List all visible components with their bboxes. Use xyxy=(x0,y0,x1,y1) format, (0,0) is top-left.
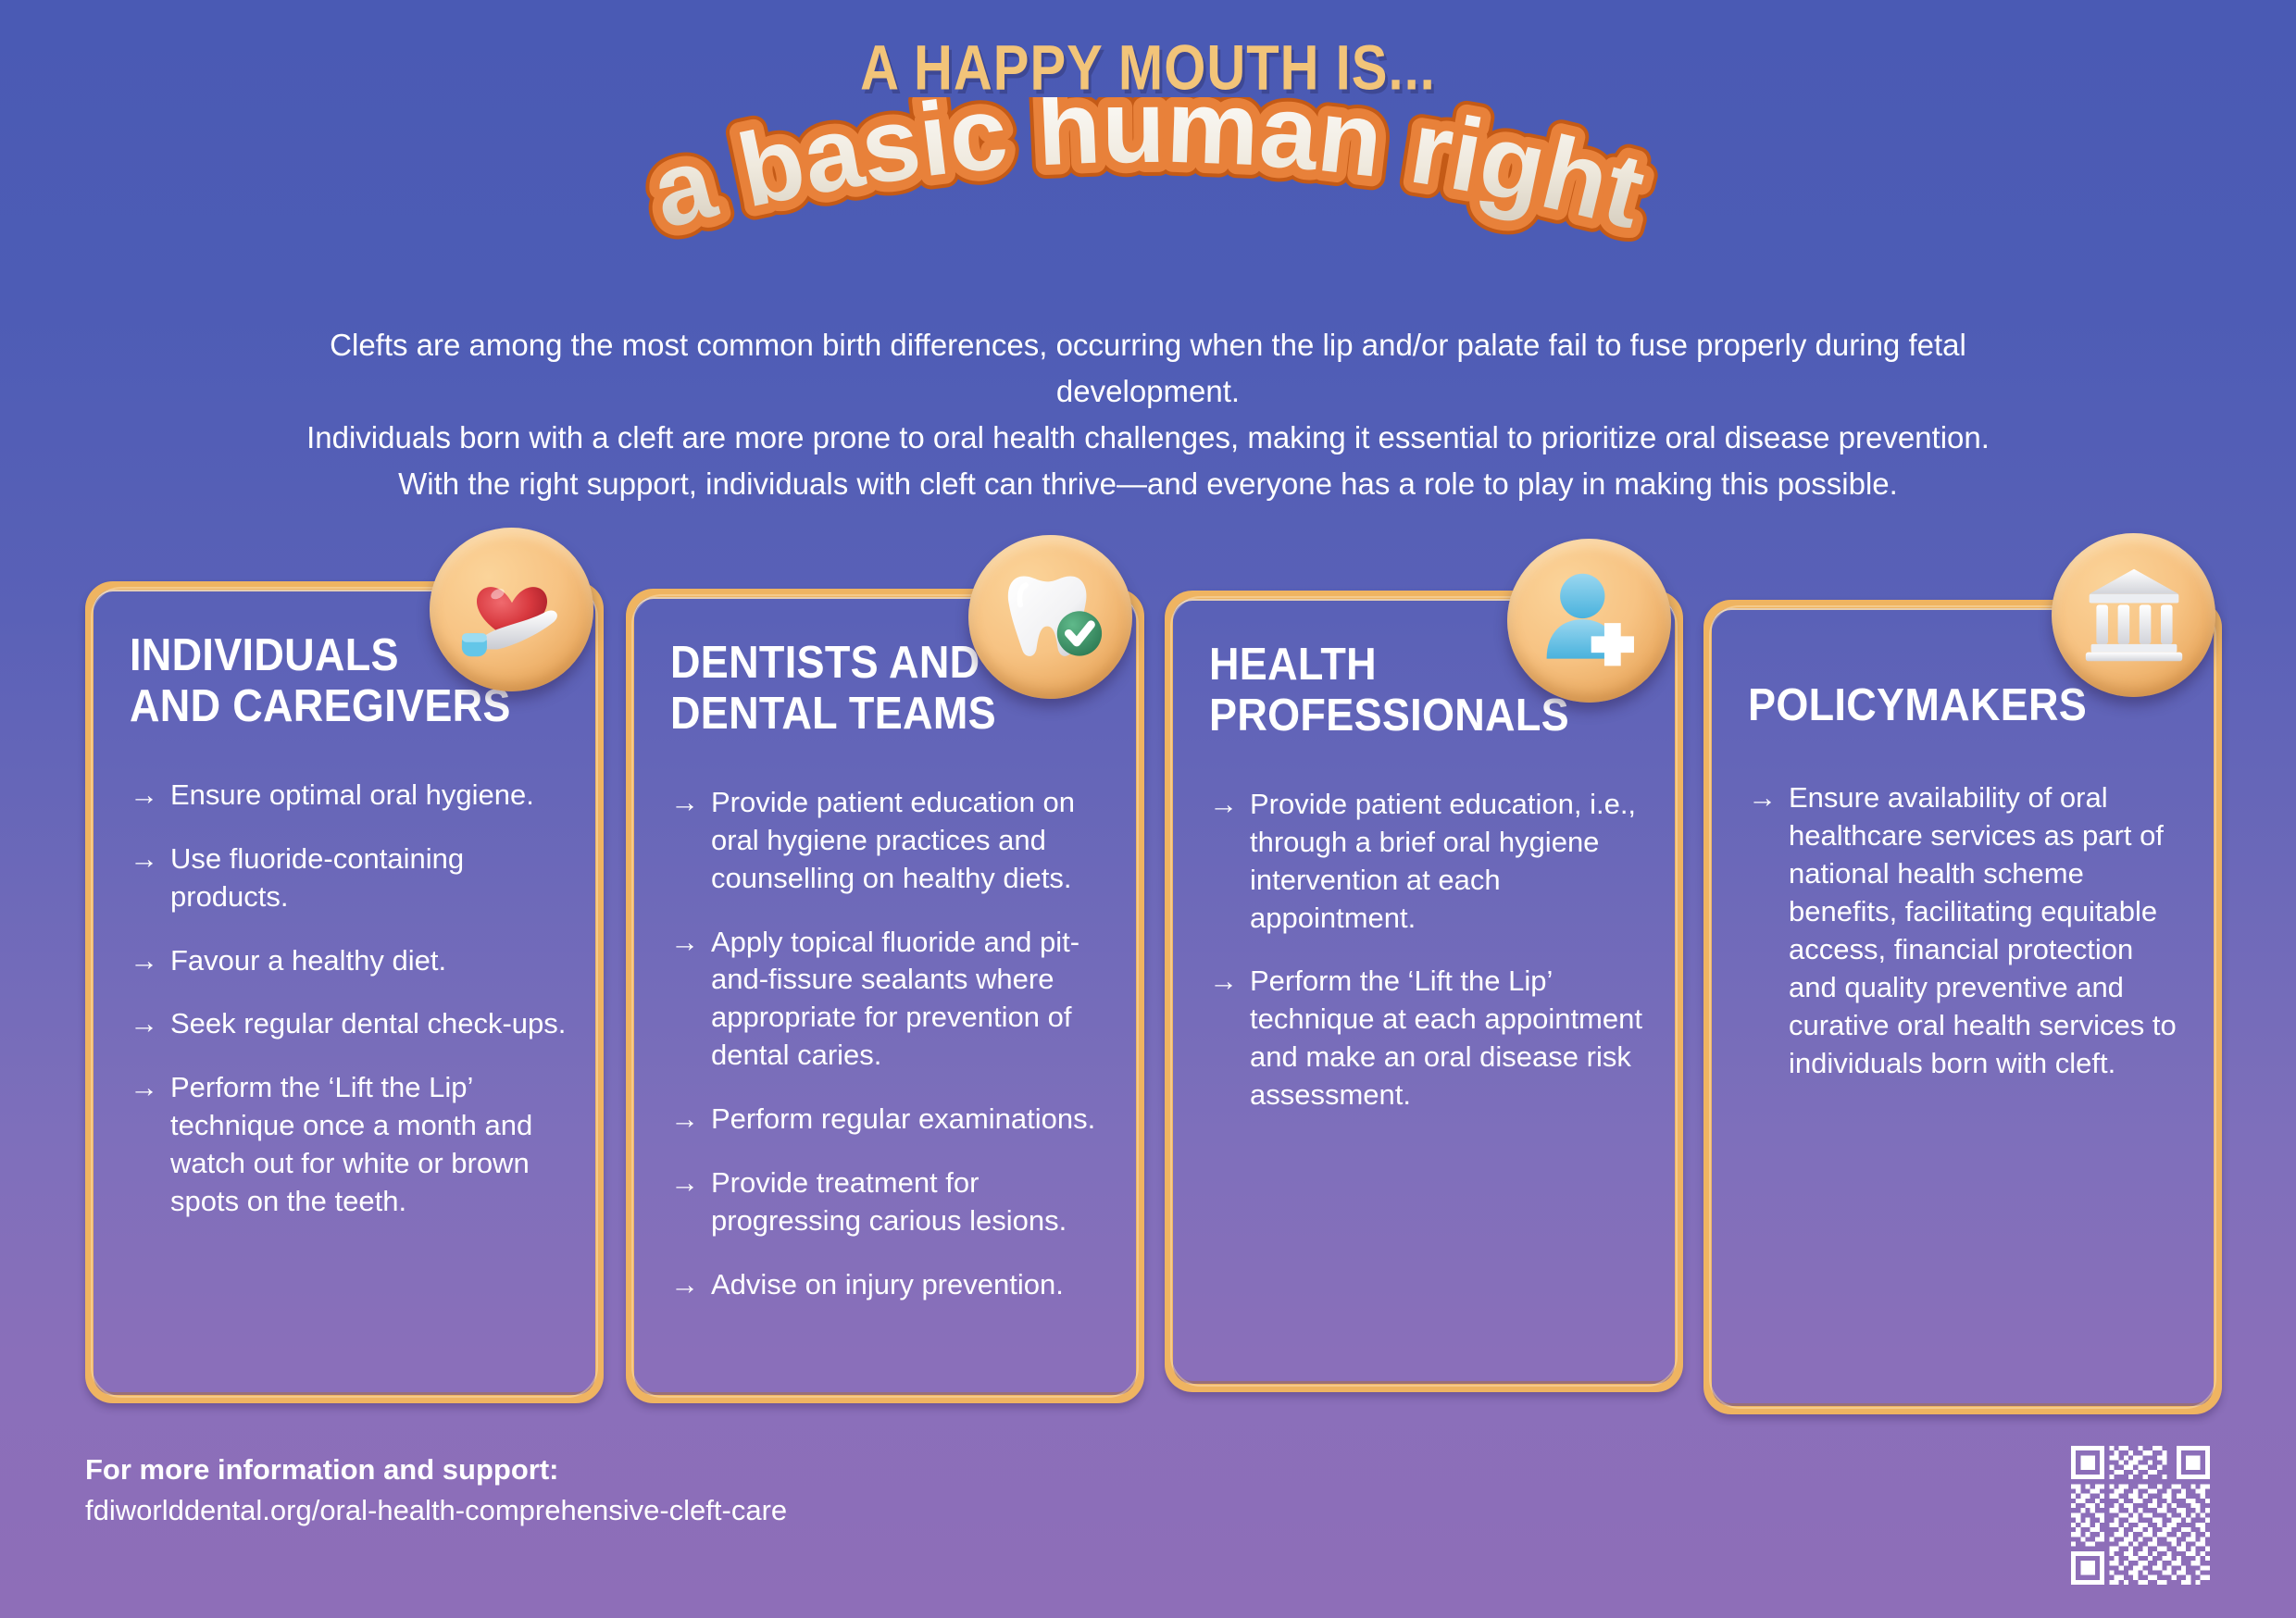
arrow-icon: → xyxy=(130,1069,170,1221)
arrow-icon: → xyxy=(130,777,170,815)
cards-container: INDIVIDUALS AND CAREGIVERS → Ensure opti… xyxy=(0,0,2296,1618)
hand-holding-heart-icon xyxy=(430,528,593,691)
list-item: → Ensure availability of oral healthcare… xyxy=(1748,779,2185,1082)
card-content: DENTISTS AND DENTAL TEAMS → Provide pati… xyxy=(626,589,1144,1403)
list-item: → Provide patient education on oral hygi… xyxy=(670,784,1107,898)
list-item-text: Perform the ‘Lift the Lip’ technique onc… xyxy=(170,1069,567,1221)
list-item-text: Perform the ‘Lift the Lip’ technique at … xyxy=(1250,963,1646,1114)
list-item-text: Provide patient education, i.e., through… xyxy=(1250,786,1646,938)
tooth-check-icon xyxy=(968,535,1132,699)
card-title-line-2: AND CAREGIVERS xyxy=(130,679,511,731)
infographic-root: A HAPPY MOUTH IS... a basic human right … xyxy=(0,0,2296,1618)
list-item-text: Perform regular examinations. xyxy=(711,1101,1095,1139)
list-item: → Advise on injury prevention. xyxy=(670,1266,1107,1304)
arrow-icon: → xyxy=(130,840,170,916)
list-item: → Ensure optimal oral hygiene. xyxy=(130,777,567,815)
card-content: HEALTH PROFESSIONALS → Provide patient e… xyxy=(1165,591,1683,1392)
government-building-icon xyxy=(2052,533,2215,697)
list-item: → Perform the ‘Lift the Lip’ technique a… xyxy=(1209,963,1646,1114)
list-item: → Apply topical fluoride and pit-and-fis… xyxy=(670,924,1107,1076)
footer-url[interactable]: fdiworlddental.org/oral-health-comprehen… xyxy=(85,1494,787,1527)
list-item-text: Favour a healthy diet. xyxy=(170,942,446,980)
card-bullet-list: → Provide patient education on oral hygi… xyxy=(670,784,1107,1304)
card-title-line-2: DENTAL TEAMS xyxy=(670,687,996,739)
arrow-icon: → xyxy=(670,1266,711,1304)
list-item: → Use fluoride-containing products. xyxy=(130,840,567,916)
list-item-text: Apply topical fluoride and pit-and-fissu… xyxy=(711,924,1107,1076)
person-plus-icon xyxy=(1507,539,1671,703)
card-policymakers: POLICYMAKERS → Ensure availability of or… xyxy=(1703,600,2222,1414)
card-title-line-1: DENTISTS AND xyxy=(670,636,980,688)
list-item-text: Use fluoride-containing products. xyxy=(170,840,567,916)
arrow-icon: → xyxy=(670,1164,711,1240)
card-title-line-2: PROFESSIONALS xyxy=(1209,689,1569,741)
card-content: INDIVIDUALS AND CAREGIVERS → Ensure opti… xyxy=(85,581,604,1403)
arrow-icon: → xyxy=(130,1005,170,1043)
card-bullet-list: → Provide patient education, i.e., throu… xyxy=(1209,786,1646,1114)
card-dentists-and-dental-teams: DENTISTS AND DENTAL TEAMS → Provide pati… xyxy=(626,589,1144,1403)
card-title-line-1: INDIVIDUALS xyxy=(130,629,399,680)
list-item: → Perform the ‘Lift the Lip’ technique o… xyxy=(130,1069,567,1221)
list-item-text: Provide treatment for progressing cariou… xyxy=(711,1164,1107,1240)
card-title-line-1: POLICYMAKERS xyxy=(1748,678,2087,730)
arrow-icon: → xyxy=(130,942,170,980)
qr-code-icon[interactable] xyxy=(2071,1446,2210,1585)
list-item: → Seek regular dental check-ups. xyxy=(130,1005,567,1043)
arrow-icon: → xyxy=(1209,963,1250,1114)
list-item: → Perform regular examinations. xyxy=(670,1101,1107,1139)
arrow-icon: → xyxy=(1748,779,1789,1082)
list-item-text: Provide patient education on oral hygien… xyxy=(711,784,1107,898)
card-bullet-list: → Ensure optimal oral hygiene. → Use flu… xyxy=(130,777,567,1221)
card-health-professionals: HEALTH PROFESSIONALS → Provide patient e… xyxy=(1165,591,1683,1392)
card-individuals-and-caregivers: INDIVIDUALS AND CAREGIVERS → Ensure opti… xyxy=(85,581,604,1403)
footer-label: For more information and support: xyxy=(85,1453,787,1487)
footer: For more information and support: fdiwor… xyxy=(85,1453,787,1527)
list-item: → Provide treatment for progressing cari… xyxy=(670,1164,1107,1240)
list-item-text: Seek regular dental check-ups. xyxy=(170,1005,566,1043)
list-item-text: Ensure optimal oral hygiene. xyxy=(170,777,534,815)
list-item-text: Ensure availability of oral healthcare s… xyxy=(1789,779,2185,1082)
card-title-line-1: HEALTH xyxy=(1209,638,1377,690)
arrow-icon: → xyxy=(670,924,711,1076)
list-item: → Favour a healthy diet. xyxy=(130,942,567,980)
arrow-icon: → xyxy=(670,784,711,898)
list-item: → Provide patient education, i.e., throu… xyxy=(1209,786,1646,938)
list-item-text: Advise on injury prevention. xyxy=(711,1266,1064,1304)
card-content: POLICYMAKERS → Ensure availability of or… xyxy=(1703,600,2222,1414)
card-bullet-list: → Ensure availability of oral healthcare… xyxy=(1748,779,2185,1082)
arrow-icon: → xyxy=(670,1101,711,1139)
arrow-icon: → xyxy=(1209,786,1250,938)
